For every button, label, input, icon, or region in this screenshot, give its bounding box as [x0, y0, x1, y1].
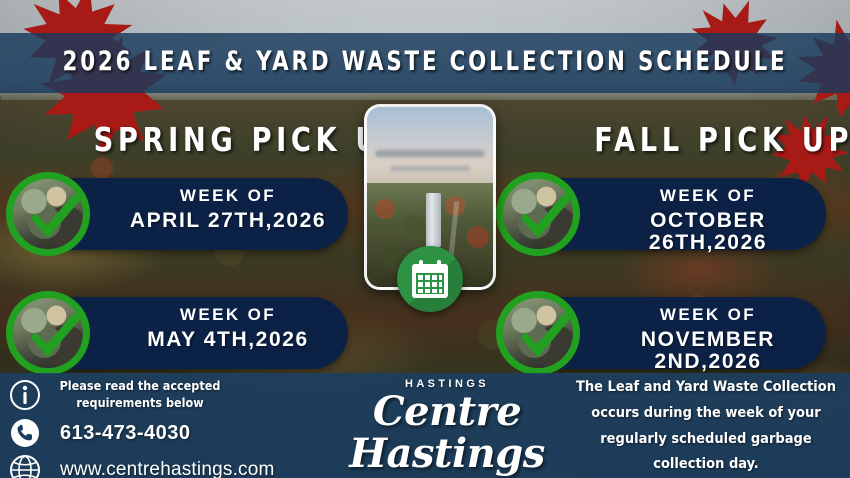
- contact-phone-row[interactable]: 613-473-4030: [8, 416, 308, 450]
- phone-icon: [8, 416, 42, 450]
- fall-pickup-2-label: WEEK OF NOVEMBER 2ND,2026: [604, 306, 812, 373]
- fall-pickup-2-line2: NOVEMBER 2ND,2026: [604, 329, 812, 373]
- fall-pickup-1-label: WEEK OF OCTOBER 26TH,2026: [604, 187, 812, 254]
- contact-note-text: Please read the accepted requirements be…: [50, 378, 230, 412]
- green-check-icon: [496, 172, 580, 256]
- spring-pickup-1-label: WEEK OF APRIL 27TH,2026: [122, 187, 334, 232]
- spring-pickup-1[interactable]: WEEK OF APRIL 27TH,2026: [18, 178, 348, 250]
- card-water-tower: [426, 193, 441, 247]
- contact-website-text: www.centrehastings.com: [60, 459, 275, 478]
- green-check-icon: [6, 172, 90, 256]
- spring-pickup-2-line2: MAY 4TH,2026: [122, 329, 334, 351]
- card-cloud: [375, 150, 486, 157]
- fall-pickup-2-line1: WEEK OF: [604, 306, 812, 324]
- spring-pickup-2-line1: WEEK OF: [122, 306, 334, 324]
- centre-hastings-logo: HASTINGS Centre Hastings COUNTY: [297, 378, 597, 478]
- fall-pickup-2[interactable]: WEEK OF NOVEMBER 2ND,2026: [508, 297, 826, 369]
- logo-script-text: Centre Hastings: [297, 391, 597, 475]
- collection-note: The Leaf and Yard Waste Collection occur…: [570, 375, 842, 478]
- spring-pickup-2-label: WEEK OF MAY 4TH,2026: [122, 306, 334, 351]
- page-title: 2026 LEAF & YARD WASTE COLLECTION SCHEDU…: [51, 46, 799, 77]
- green-check-icon: [6, 291, 90, 375]
- green-check-icon: [496, 291, 580, 375]
- fall-pickup-1[interactable]: WEEK OF OCTOBER 26TH,2026: [508, 178, 826, 250]
- spring-heading: SPRING PICK UP: [94, 120, 407, 159]
- contact-note-row: Please read the accepted requirements be…: [8, 378, 308, 412]
- card-cloud: [390, 166, 471, 171]
- fall-pickup-1-line2: OCTOBER 26TH,2026: [604, 210, 812, 254]
- fall-pickup-1-line1: WEEK OF: [604, 187, 812, 205]
- contact-block: Please read the accepted requirements be…: [8, 378, 308, 478]
- info-icon: [8, 378, 42, 412]
- poster-root: 2026 LEAF & YARD WASTE COLLECTION SCHEDU…: [0, 0, 850, 478]
- globe-icon: [8, 453, 42, 478]
- calendar-icon: [397, 246, 463, 312]
- contact-website-row[interactable]: www.centrehastings.com: [8, 453, 308, 478]
- fall-heading: FALL PICK UP: [594, 120, 850, 159]
- spring-pickup-2[interactable]: WEEK OF MAY 4TH,2026: [18, 297, 348, 369]
- card-sky: [367, 107, 493, 186]
- spring-pickup-1-line1: WEEK OF: [122, 187, 334, 205]
- spring-pickup-1-line2: APRIL 27TH,2026: [122, 210, 334, 232]
- contact-phone-text: 613-473-4030: [60, 422, 191, 445]
